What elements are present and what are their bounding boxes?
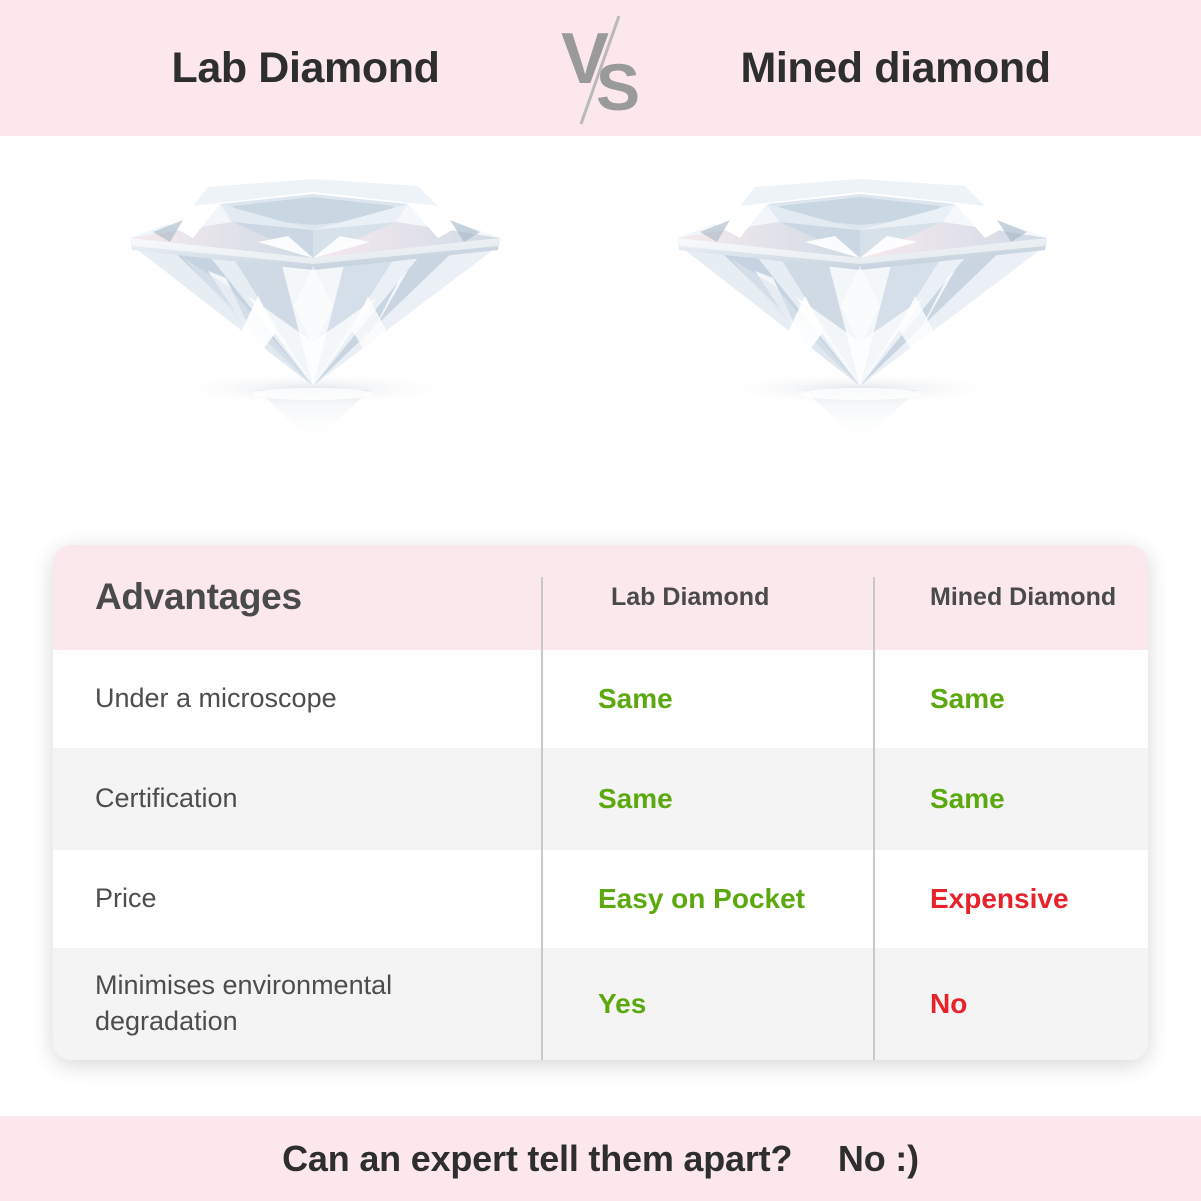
row-label-price: Price [53, 881, 541, 917]
header-band: Lab Diamond V S Mined diamond [0, 0, 1201, 136]
header-inner: Lab Diamond V S Mined diamond [0, 8, 1201, 128]
table-row: Under a microscope Same Same [53, 650, 1148, 748]
cell-mined-minimises-environmental-degradation: No [873, 988, 1148, 1020]
header-title-mined-diamond: Mined diamond [661, 44, 1131, 93]
cell-lab-certification: Same [541, 783, 873, 815]
cell-lab-minimises-environmental-degradation: Yes [541, 988, 873, 1020]
header-title-lab-diamond: Lab Diamond [71, 44, 541, 93]
vs-badge: V S [541, 8, 661, 128]
column-divider-2 [873, 577, 875, 1060]
footer-band: Can an expert tell them apart? No :) [0, 1116, 1201, 1201]
cell-lab-price: Easy on Pocket [541, 883, 873, 915]
row-label-under-a-microscope: Under a microscope [53, 681, 541, 717]
lab-diamond-image [108, 146, 528, 446]
column-header-lab-diamond: Lab Diamond [541, 583, 873, 612]
table-row: Price Easy on Pocket Expensive [53, 850, 1148, 948]
diamond-icon [655, 146, 1075, 446]
cell-mined-price: Expensive [873, 883, 1148, 915]
column-divider-1 [541, 577, 543, 1060]
row-label-certification: Certification [53, 781, 541, 817]
comparison-table-card: Advantages Lab Diamond Mined Diamond Und… [53, 545, 1148, 1060]
footer-text: Can an expert tell them apart? No :) [282, 1138, 919, 1180]
footer-answer: No :) [838, 1138, 919, 1179]
diamond-icon [108, 146, 528, 446]
cell-mined-under-a-microscope: Same [873, 683, 1148, 715]
column-header-mined-diamond: Mined Diamond [873, 583, 1148, 612]
column-header-advantages: Advantages [53, 573, 541, 622]
table-row: Minimises environmental degradation Yes … [53, 948, 1148, 1060]
table-row: Certification Same Same [53, 748, 1148, 850]
table-header-row: Advantages Lab Diamond Mined Diamond [53, 545, 1148, 650]
cell-mined-certification: Same [873, 783, 1148, 815]
vs-icon: V S [541, 8, 661, 128]
cell-lab-under-a-microscope: Same [541, 683, 873, 715]
mined-diamond-image [655, 146, 1075, 446]
footer-question: Can an expert tell them apart? [282, 1138, 792, 1179]
diamond-stage [0, 136, 1201, 536]
row-label-minimises-environmental-degradation: Minimises environmental degradation [53, 968, 541, 1039]
